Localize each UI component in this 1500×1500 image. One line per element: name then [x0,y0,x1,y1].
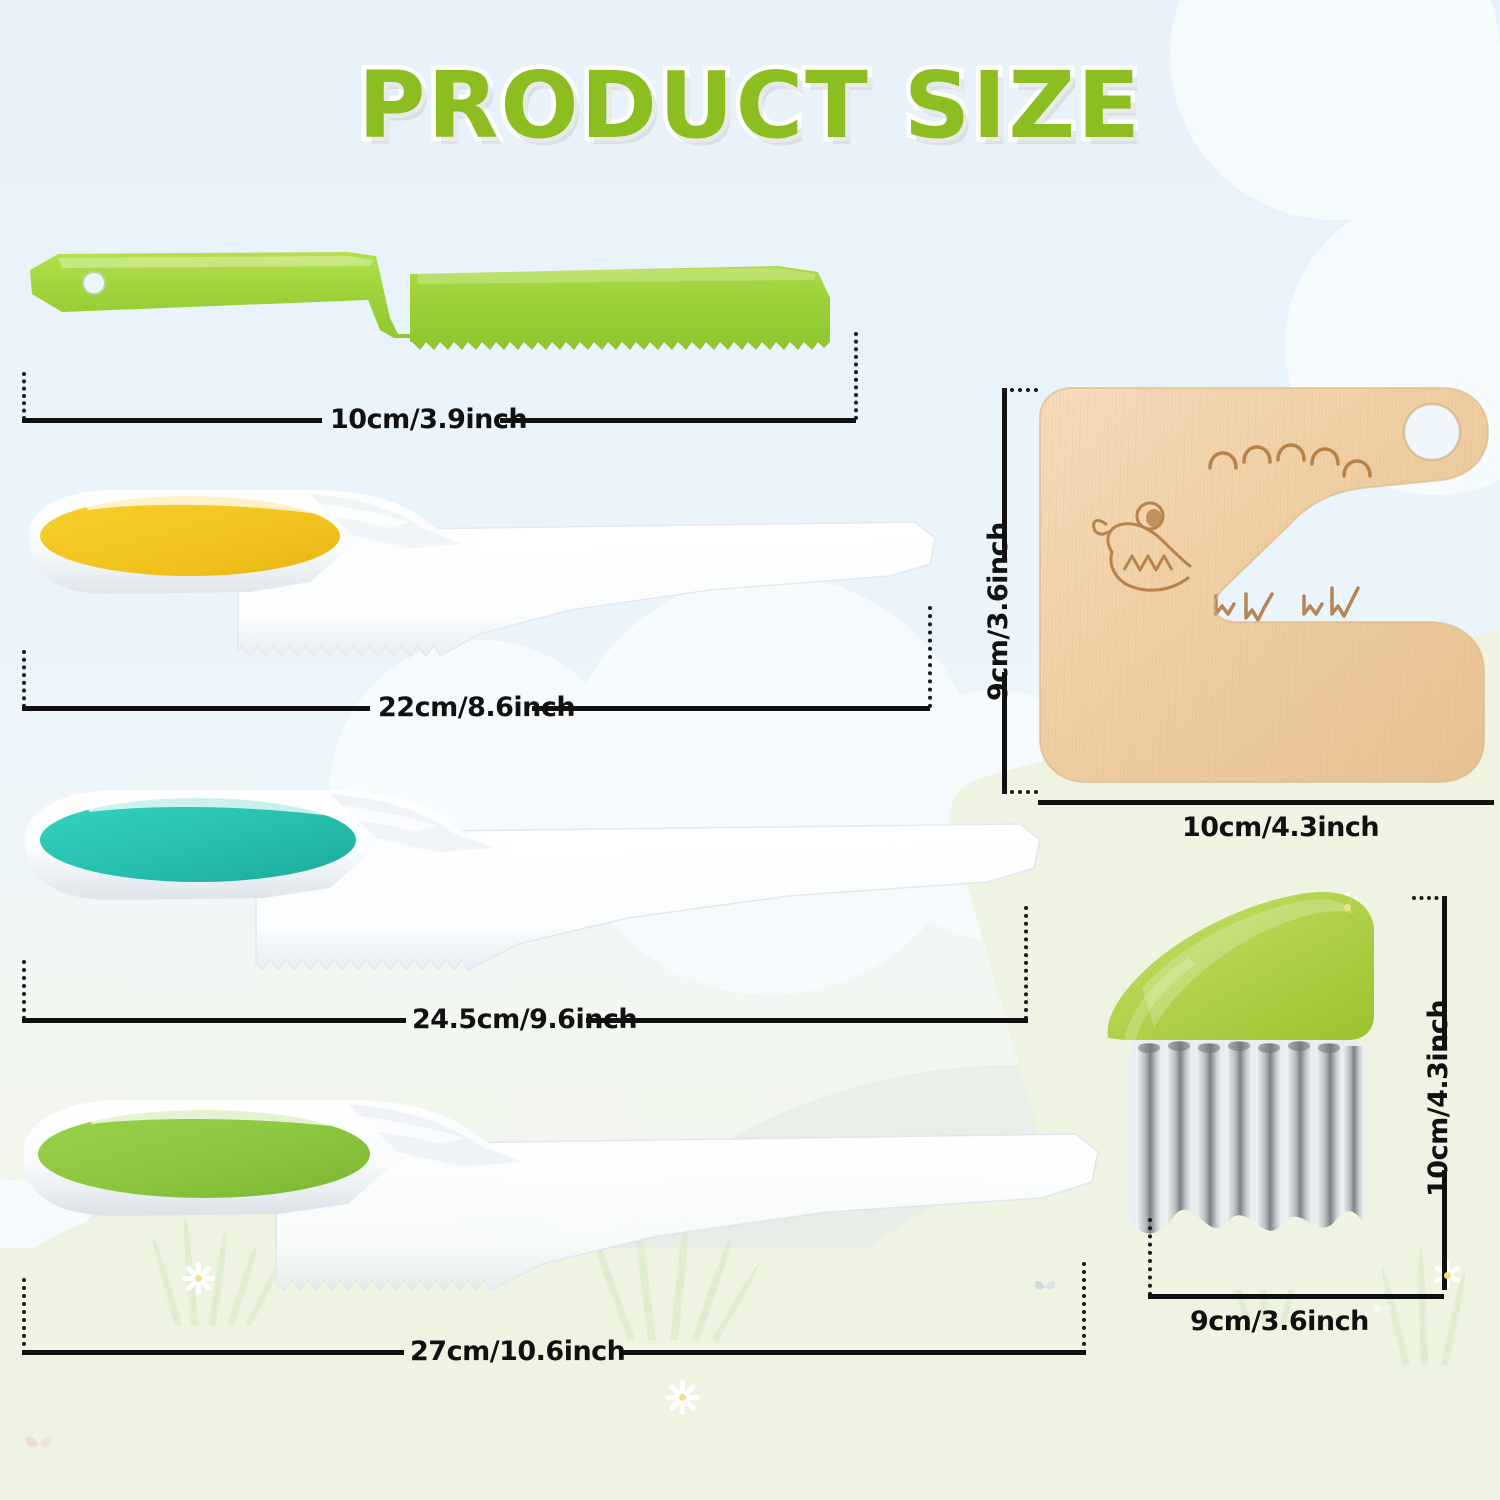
product-green-handle-knife [6,1088,1106,1314]
product-yellow-handle-knife [10,478,940,678]
measure-guide-top [1002,388,1038,392]
measure-line [532,706,930,711]
lime-knife-graphic [18,238,858,388]
measure-guide-left [22,372,26,420]
measure-guide-left [22,650,26,708]
measure-label-wood-width: 10cm/4.3inch [1182,812,1379,843]
measure-guide-bottom [1002,790,1038,794]
daisy-flower [660,1375,704,1419]
measure-guide-left [1148,1218,1152,1296]
measure-guide-right [1024,906,1028,1020]
teal-knife-graphic [8,778,1048,994]
daisy-flower [1430,1258,1464,1292]
crinkle-cutter-graphic [1078,870,1408,1300]
page-title: PRODUCT SIZE [0,52,1500,159]
measure-label-crinkle-width: 9cm/3.6inch [1190,1306,1369,1337]
measure-line [500,418,856,423]
butterfly-icon [1370,1300,1394,1320]
measure-line [620,1350,1086,1355]
product-teal-handle-knife [8,778,1048,994]
measure-line [22,706,370,711]
green-knife-graphic [6,1088,1106,1314]
measure-line [1038,800,1494,805]
measure-guide-right [928,606,932,708]
measure-label-green-knife: 27cm/10.6inch [410,1336,625,1367]
measure-line [22,418,322,423]
butterfly-icon [22,1430,56,1458]
yellow-knife-graphic [10,478,940,678]
measure-line [1148,1294,1444,1299]
measure-line [586,1018,1028,1023]
measure-line [22,1350,404,1355]
product-size-infographic: PRODUCT SIZE 10cm/3.9inch [0,0,1500,1500]
product-crinkle-cutter [1078,870,1408,1300]
measure-label-lime-knife: 10cm/3.9inch [330,404,527,435]
measure-label-teal-knife: 24.5cm/9.6inch [412,1004,637,1035]
measure-guide-left [22,960,26,1020]
wooden-croc-graphic [1032,384,1494,800]
measure-guide-top [1412,896,1446,900]
measure-guide-left [22,1278,26,1354]
product-lime-serrated-knife [18,238,858,388]
measure-label-crinkle-height: 10cm/4.3inch [1423,1000,1454,1197]
product-wooden-crocodile-cutter [1032,384,1494,800]
measure-label-wood-height: 9cm/3.6inch [983,522,1014,701]
measure-label-yellow-knife: 22cm/8.6inch [378,692,575,723]
measure-line [22,1018,406,1023]
measure-guide-right [854,332,858,420]
